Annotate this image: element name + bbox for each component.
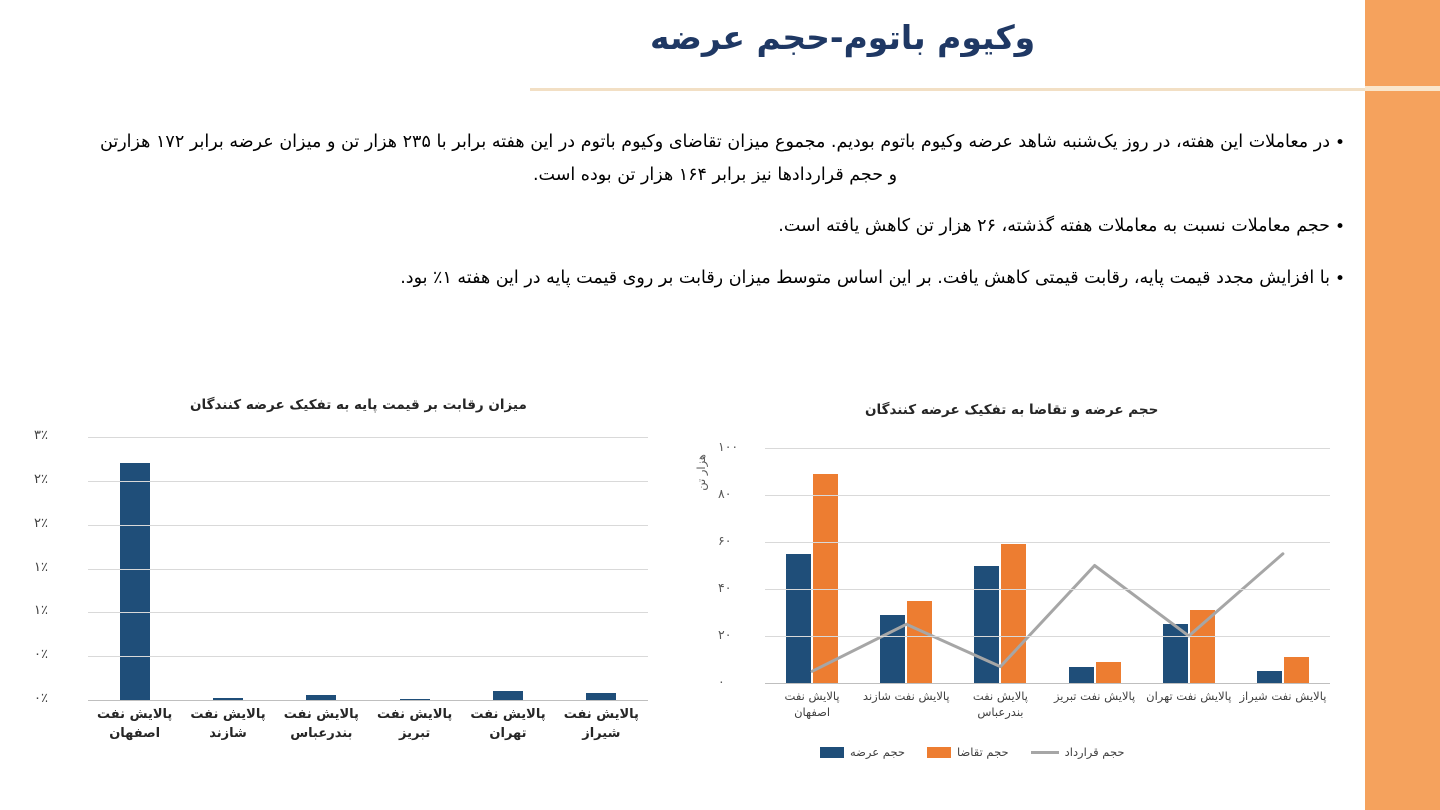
chart-title: میزان رقابت بر قیمت پایه به تفکیک عرضه ک… — [190, 397, 527, 413]
chart-legend: حجم عرضهحجم تقاضاحجم قرارداد — [820, 745, 1125, 759]
plot-area: ۳٪۲٪۲٪۱٪۱٪۰٪۰٪ — [88, 437, 648, 700]
x-axis-tick-label: پالایش نفت تبریز — [1048, 688, 1142, 720]
gridline: ۲٪ — [88, 481, 648, 482]
gridline: ۲٪ — [88, 525, 648, 526]
legend-item[interactable]: حجم عرضه — [820, 745, 905, 759]
list-item: • در معاملات این هفته، در روز یک‌شنبه شا… — [100, 126, 1350, 192]
x-axis-tick-label: پالایش نفت اصفهان — [765, 688, 859, 720]
x-axis-tick-label: پالایش نفت تهران — [1142, 688, 1236, 720]
legend-color-swatch — [820, 747, 844, 758]
bar[interactable] — [493, 691, 523, 700]
title-underline — [530, 88, 1365, 91]
legend-color-swatch — [927, 747, 951, 758]
line-path[interactable] — [812, 554, 1283, 672]
gridline: ۱۰۰ — [765, 448, 1330, 449]
accent-sidebar — [1365, 0, 1440, 810]
y-axis-tick-label: ۰ — [718, 674, 758, 689]
x-axis-tick-label: پالایش نفت اصفهان — [88, 705, 181, 743]
legend-label: حجم قرارداد — [1065, 745, 1125, 759]
x-axis-labels: پالایش نفت اصفهانپالایش نفت شازندپالایش … — [765, 688, 1330, 720]
x-axis-tick-label: پالایش نفت تهران — [461, 705, 554, 743]
bullet-marker-icon: • — [1330, 210, 1350, 244]
contract-line-series — [765, 448, 1330, 683]
bullet-text: در معاملات این هفته، در روز یک‌شنبه شاهد… — [100, 126, 1330, 192]
bullet-text: با افزایش مجدد قیمت پایه، رقابت قیمتی کا… — [100, 262, 1330, 295]
y-axis-tick-label: ۲٪ — [34, 516, 80, 531]
y-axis-title: هزار تن — [694, 454, 708, 491]
page-title: وکیوم باتوم-حجم عرضه — [650, 18, 1350, 57]
y-axis-tick-label: ۲٪ — [34, 472, 80, 487]
x-axis-tick-label: پالایش نفت شازند — [859, 688, 953, 720]
gridline: ۰٪ — [88, 656, 648, 657]
list-item: • حجم معاملات نسبت به معاملات هفته گذشته… — [100, 210, 1350, 244]
gridline: ۸۰ — [765, 495, 1330, 496]
bullet-marker-icon: • — [1330, 262, 1350, 296]
competition-chart: میزان رقابت بر قیمت پایه به تفکیک عرضه ک… — [0, 385, 700, 805]
list-item: • با افزایش مجدد قیمت پایه، رقابت قیمتی … — [100, 262, 1350, 296]
accent-sidebar-divider — [1365, 86, 1440, 91]
x-axis-tick-label: پالایش نفت تبریز — [368, 705, 461, 743]
y-axis-tick-label: ۸۰ — [718, 486, 758, 501]
axis-baseline: ۰ — [765, 683, 1330, 684]
bar[interactable] — [120, 463, 150, 700]
legend-item[interactable]: حجم تقاضا — [927, 745, 1009, 759]
legend-line-swatch — [1031, 751, 1059, 754]
gridline: ۲۰ — [765, 636, 1330, 637]
bullet-text: حجم معاملات نسبت به معاملات هفته گذشته، … — [100, 210, 1330, 243]
supply-demand-chart: حجم عرضه و تقاضا به تفکیک عرضه کنندگان ه… — [680, 390, 1370, 810]
legend-label: حجم عرضه — [850, 745, 905, 759]
axis-baseline: ۰٪ — [88, 700, 648, 701]
x-axis-tick-label: پالایش نفت بندرعباس — [953, 688, 1047, 720]
x-axis-tick-label: پالایش نفت بندرعباس — [275, 705, 368, 743]
x-axis-tick-label: پالایش نفت شیراز — [555, 705, 648, 743]
x-axis-labels: پالایش نفت اصفهانپالایش نفت شازندپالایش … — [88, 705, 648, 743]
y-axis-tick-label: ۰٪ — [34, 691, 80, 706]
y-axis-tick-label: ۱٪ — [34, 603, 80, 618]
bullet-marker-icon: • — [1330, 126, 1350, 160]
legend-item[interactable]: حجم قرارداد — [1031, 745, 1125, 759]
gridline: ۴۰ — [765, 589, 1330, 590]
x-axis-tick-label: پالایش نفت شازند — [181, 705, 274, 743]
x-axis-tick-label: پالایش نفت شیراز — [1236, 688, 1330, 720]
y-axis-tick-label: ۳٪ — [34, 428, 80, 443]
chart-title: حجم عرضه و تقاضا به تفکیک عرضه کنندگان — [865, 402, 1158, 418]
plot-area: ۱۰۰۸۰۶۰۴۰۲۰۰ — [765, 448, 1330, 683]
y-axis-tick-label: ۶۰ — [718, 533, 758, 548]
y-axis-tick-label: ۴۰ — [718, 580, 758, 595]
bar[interactable] — [586, 693, 616, 700]
gridline: ۶۰ — [765, 542, 1330, 543]
bullet-list: • در معاملات این هفته، در روز یک‌شنبه شا… — [100, 126, 1350, 314]
gridline: ۳٪ — [88, 437, 648, 438]
slide-canvas: وکیوم باتوم-حجم عرضه • در معاملات این هف… — [0, 0, 1440, 810]
y-axis-tick-label: ۰٪ — [34, 647, 80, 662]
gridline: ۱٪ — [88, 569, 648, 570]
y-axis-tick-label: ۲۰ — [718, 627, 758, 642]
y-axis-tick-label: ۱٪ — [34, 560, 80, 575]
legend-label: حجم تقاضا — [957, 745, 1009, 759]
gridline: ۱٪ — [88, 612, 648, 613]
y-axis-tick-label: ۱۰۰ — [718, 439, 758, 454]
